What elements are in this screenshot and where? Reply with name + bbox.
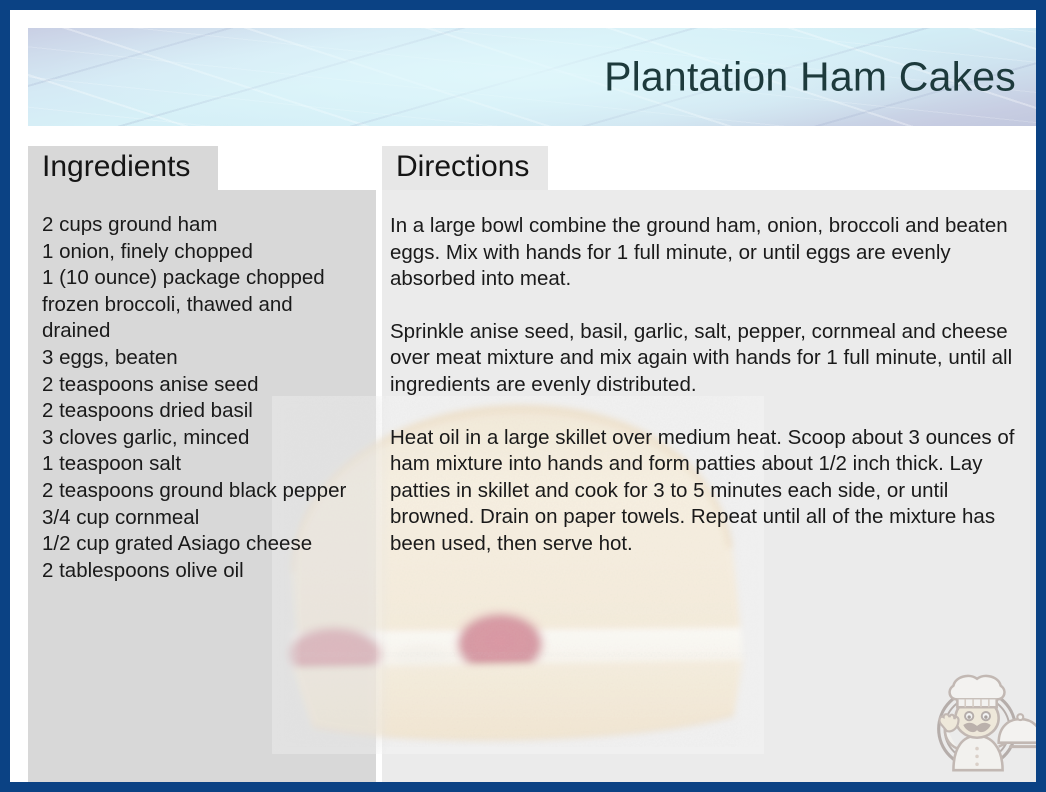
list-item: 2 teaspoons dried basil bbox=[42, 398, 378, 425]
list-item: 2 teaspoons anise seed bbox=[42, 372, 378, 399]
list-item: drained bbox=[42, 318, 378, 345]
direction-step: In a large bowl combine the ground ham, … bbox=[390, 213, 1038, 293]
list-item: 1 onion, finely chopped bbox=[42, 239, 378, 266]
list-item: 1 teaspoon salt bbox=[42, 451, 378, 478]
card-inner-surface: Plantation Ham Cakes Ingredients Directi… bbox=[20, 20, 1046, 792]
list-item: 2 tablespoons olive oil bbox=[42, 558, 378, 585]
directions-text: In a large bowl combine the ground ham, … bbox=[390, 213, 1038, 558]
page-title: Plantation Ham Cakes bbox=[604, 54, 1016, 101]
list-item: 1 (10 ounce) package chopped bbox=[42, 265, 378, 292]
list-item: 3 cloves garlic, minced bbox=[42, 425, 378, 452]
list-item: 3 eggs, beaten bbox=[42, 345, 378, 372]
list-item: 2 cups ground ham bbox=[42, 212, 378, 239]
chef-logo-icon bbox=[920, 664, 1038, 782]
direction-step: Heat oil in a large skillet over medium … bbox=[390, 425, 1038, 558]
list-item: 1/2 cup grated Asiago cheese bbox=[42, 531, 378, 558]
list-item: 2 teaspoons ground black pepper bbox=[42, 478, 378, 505]
list-item: frozen broccoli, thawed and bbox=[42, 292, 378, 319]
ingredients-list: 2 cups ground ham 1 onion, finely choppe… bbox=[42, 212, 378, 584]
directions-heading: Directions bbox=[382, 146, 548, 190]
header-banner: Plantation Ham Cakes bbox=[28, 28, 1038, 126]
list-item: 3/4 cup cornmeal bbox=[42, 505, 378, 532]
direction-step: Sprinkle anise seed, basil, garlic, salt… bbox=[390, 319, 1038, 399]
recipe-card: Plantation Ham Cakes Ingredients Directi… bbox=[0, 0, 1046, 792]
ingredients-heading: Ingredients bbox=[28, 146, 218, 190]
